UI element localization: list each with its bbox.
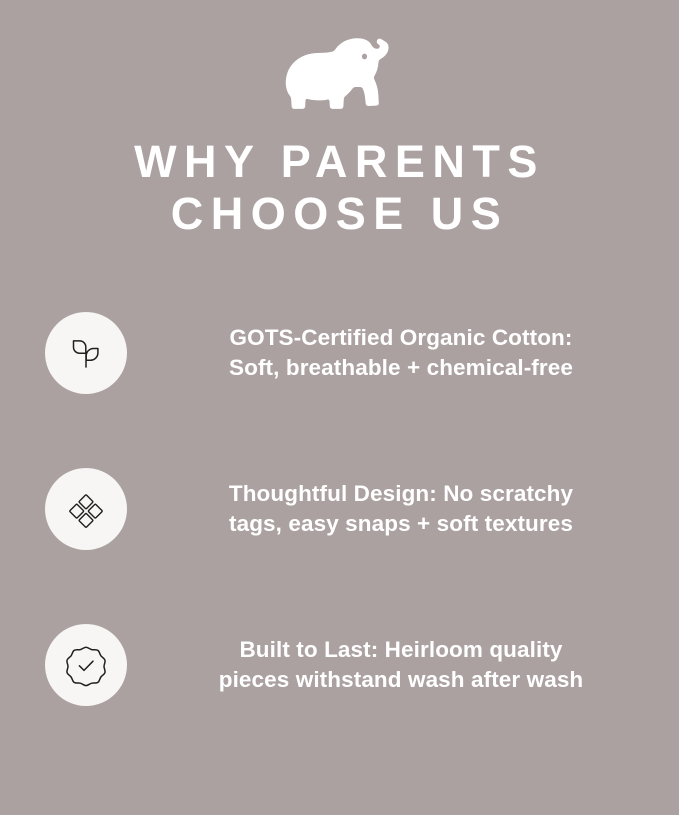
sprout-icon: [66, 333, 106, 373]
feature-icon-badge: [45, 468, 127, 550]
quality-badge-check-icon: [64, 643, 108, 687]
feature-icon-badge: [45, 312, 127, 394]
page-title-line-2: CHOOSE US: [0, 188, 679, 240]
brand-logo: [280, 34, 400, 112]
feature-text-line-2: pieces withstand wash after wash: [153, 665, 649, 695]
feature-text-line-1: Built to Last: Heirloom quality: [153, 635, 649, 665]
feature-icon-badge: [45, 624, 127, 706]
feature-text-line-1: GOTS-Certified Organic Cotton:: [153, 323, 649, 353]
feature-text-organic-cotton: GOTS-Certified Organic Cotton: Soft, bre…: [127, 323, 679, 383]
page-title: WHY PARENTS CHOOSE US: [0, 136, 679, 240]
feature-text-built-to-last: Built to Last: Heirloom quality pieces w…: [127, 635, 679, 695]
feature-text-line-1: Thoughtful Design: No scratchy: [153, 479, 649, 509]
snaps-diamonds-icon: [66, 489, 106, 529]
feature-item-built-to-last: Built to Last: Heirloom quality pieces w…: [0, 624, 679, 706]
feature-text-thoughtful-design: Thoughtful Design: No scratchy tags, eas…: [127, 479, 679, 539]
feature-item-thoughtful-design: Thoughtful Design: No scratchy tags, eas…: [0, 468, 679, 550]
page-title-line-1: WHY PARENTS: [0, 136, 679, 188]
feature-text-line-2: tags, easy snaps + soft textures: [153, 509, 649, 539]
elephant-icon: [285, 36, 395, 110]
feature-item-organic-cotton: GOTS-Certified Organic Cotton: Soft, bre…: [0, 312, 679, 394]
feature-text-line-2: Soft, breathable + chemical-free: [153, 353, 649, 383]
feature-list: GOTS-Certified Organic Cotton: Soft, bre…: [0, 312, 679, 706]
why-parents-choose-us-panel: WHY PARENTS CHOOSE US GOTS-Certified Org…: [0, 0, 679, 815]
